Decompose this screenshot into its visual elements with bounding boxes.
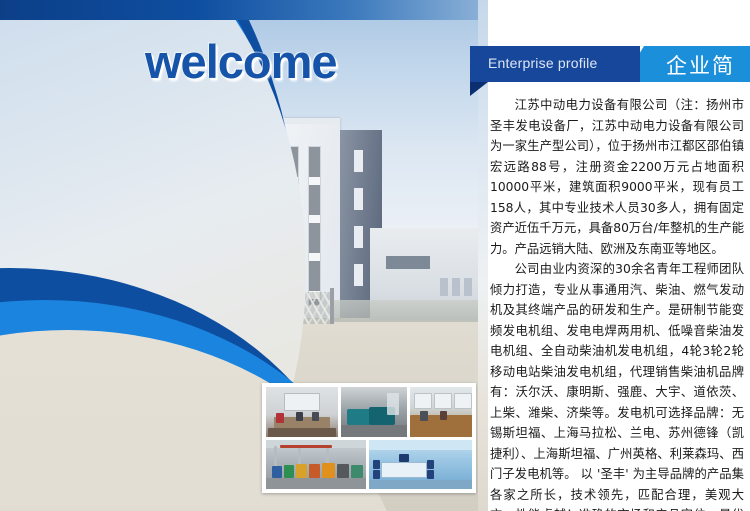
section-header-tab: 企业简介 Enterprise profile: [470, 46, 750, 82]
assembly-line-photo: [266, 440, 366, 489]
tab-chinese-title: 企业简介: [622, 46, 750, 82]
showroom-office-photo: [410, 387, 472, 437]
office-meeting-photo: [266, 387, 338, 437]
tab-english-label: Enterprise profile: [488, 55, 597, 71]
workshop-window: [464, 278, 472, 296]
tower-window: [354, 226, 363, 248]
profile-paragraph-2: 公司由业内资深的30余名青年工程师团队倾力打造，专业从事通用汽、柴油、燃气发动机…: [490, 259, 744, 511]
workshop-window: [440, 278, 448, 296]
tower-window: [354, 188, 363, 210]
tab-english-title: Enterprise profile: [470, 46, 640, 82]
top-gradient-band: [0, 0, 488, 20]
photo-collage: [262, 383, 476, 493]
workshop-window: [452, 278, 460, 296]
tower-window: [354, 264, 363, 286]
hedge-row: [330, 300, 480, 322]
hero-image-area: 中动电力 江苏中动电力设备有限公司 Zhongdong Power Equipm…: [0, 0, 488, 511]
gate-post: [330, 288, 334, 324]
generator-workshop-photo: [341, 387, 407, 437]
workshop-window: [386, 256, 430, 269]
profile-paragraph-1: 江苏中动电力设备有限公司（注：扬州市圣丰发电设备厂，江苏中动电力设备有限公司为一…: [490, 95, 744, 259]
collage-row-bottom: [266, 440, 472, 489]
conference-room-photo: [369, 440, 472, 489]
welcome-headline: welcome: [145, 34, 337, 89]
collage-row-top: [266, 387, 472, 437]
profile-body-text: 江苏中动电力设备有限公司（注：扬州市圣丰发电设备厂，江苏中动电力设备有限公司为一…: [490, 95, 744, 495]
window-column: [308, 146, 321, 306]
tower-window: [354, 150, 363, 172]
company-profile-banner: 中动电力 江苏中动电力设备有限公司 Zhongdong Power Equipm…: [0, 0, 750, 511]
